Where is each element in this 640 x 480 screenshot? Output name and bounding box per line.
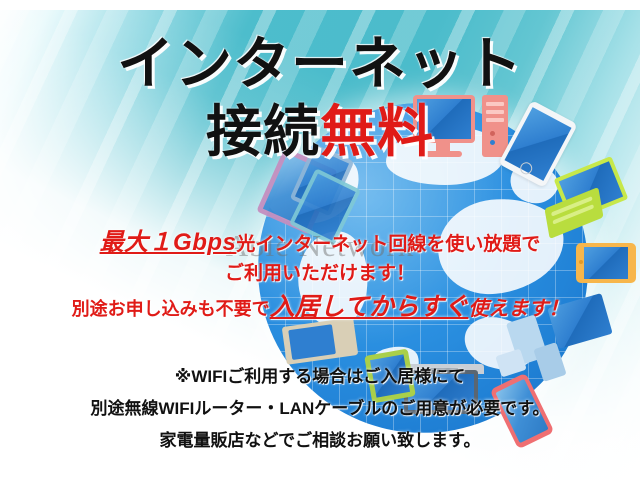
page-subtitle-black: 接続 — [206, 100, 320, 163]
internet-free-poster: Able Network インターネット 接続無料 最大１Gbps光インターネッ… — [0, 0, 640, 480]
page-title: インターネット — [0, 36, 640, 93]
page-subtitle-red: 無料 — [320, 100, 434, 163]
speed-line: 最大１Gbps光インターネット回線を使い放題で — [0, 222, 640, 257]
page-subtitle: 接続無料 — [0, 104, 640, 160]
no-application-emphasis: 入居してからすぐ — [270, 293, 469, 321]
no-application-suffix: 使えます！ — [468, 298, 568, 320]
speed-emphasis: 最大１Gbps — [100, 229, 237, 256]
no-application-prefix: 別途お申し込みも不要で — [72, 299, 270, 319]
top-white-band — [0, 0, 640, 10]
laptop-screen — [288, 324, 336, 360]
speed-rest: 光インターネット回線を使い放題で — [236, 234, 540, 255]
note-line-2: 別途無線WIFIルーター・LANケーブルのご用意が必要です。 — [0, 394, 640, 419]
note-line-1: ※WIFIご利用する場合はご入居様にて — [0, 362, 640, 387]
usage-line: ご利用いただけます！ — [0, 258, 640, 285]
note-line-3: 家電量販店などでご相談お願い致します。 — [0, 426, 640, 451]
no-application-line: 別途お申し込みも不要で入居してからすぐ使えます！ — [0, 287, 640, 323]
